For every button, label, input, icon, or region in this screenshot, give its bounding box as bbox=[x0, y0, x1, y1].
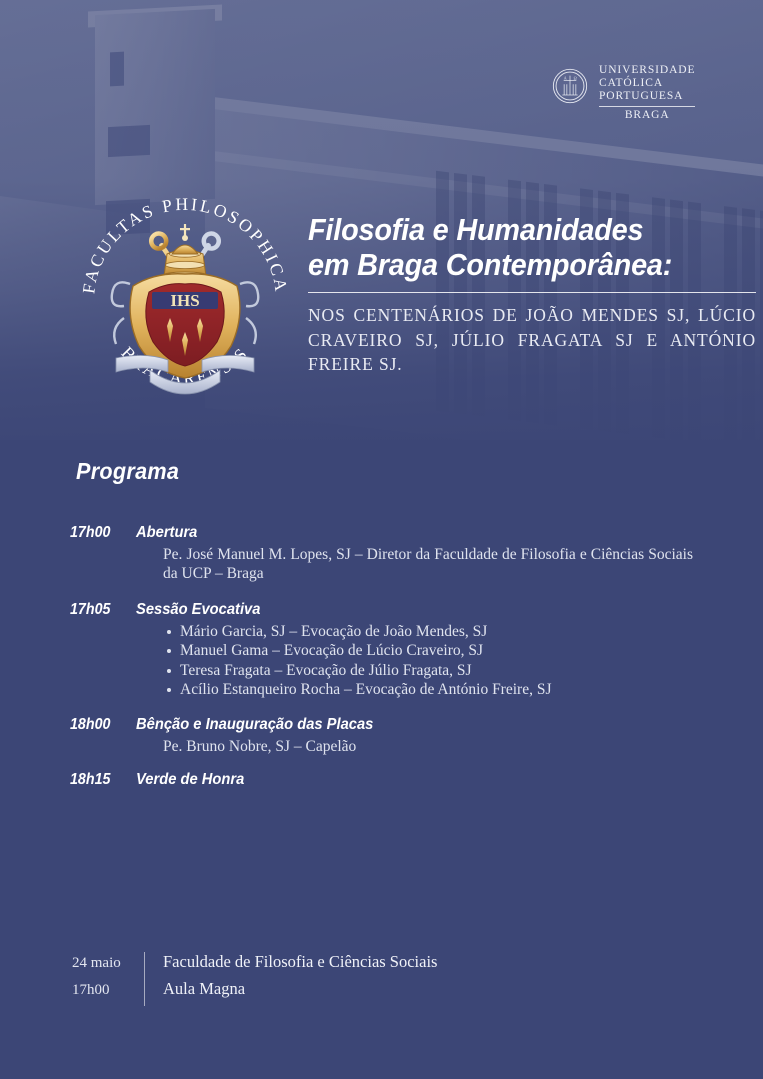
list-item: Acílio Estanqueiro Rocha – Evocação de A… bbox=[180, 680, 695, 699]
footer-time: 17h00 bbox=[72, 982, 144, 999]
svg-text:IHS: IHS bbox=[170, 291, 199, 310]
footer-divider bbox=[144, 952, 145, 979]
entry-time: 17h05 bbox=[70, 601, 131, 619]
program-entry: 18h00 Bênção e Inauguração das Placas bbox=[70, 716, 695, 734]
list-item: Mário Garcia, SJ – Evocação de João Mend… bbox=[180, 622, 695, 641]
ucp-divider bbox=[599, 106, 695, 107]
ucp-crest-icon: A Ω bbox=[552, 68, 588, 104]
ucp-wordmark: UNIVERSIDADE CATÓLICA PORTUGUESA BRAGA bbox=[599, 64, 695, 122]
footer: 24 maio Faculdade de Filosofia e Ciência… bbox=[72, 952, 437, 1006]
entry-title: Verde de Honra bbox=[136, 771, 244, 789]
subtitle: NOS CENTENÁRIOS DE JOÃO MENDES SJ, LÚCIO… bbox=[308, 303, 756, 378]
entry-title: Bênção e Inauguração das Placas bbox=[136, 716, 373, 734]
program-entry: 17h00 Abertura bbox=[70, 524, 695, 542]
footer-divider bbox=[144, 979, 145, 1006]
faculty-seal-icon: FACULTAS PHILOSOPHICA BRACARENSIS bbox=[72, 188, 298, 414]
ucp-logo: A Ω UNIVERSIDADE CATÓLICA PORTUGUESA BRA… bbox=[552, 64, 695, 122]
footer-date: 24 maio bbox=[72, 955, 144, 972]
program-heading: Programa bbox=[76, 458, 179, 485]
program-list: 17h00 Abertura Pe. José Manuel M. Lopes,… bbox=[70, 524, 695, 789]
program-entry: 18h15 Verde de Honra bbox=[70, 771, 695, 789]
list-item: Teresa Fragata – Evocação de Júlio Fraga… bbox=[180, 661, 695, 680]
title-block: Filosofia e Humanidades em Braga Contemp… bbox=[308, 212, 758, 377]
svg-text:Ω: Ω bbox=[574, 76, 577, 81]
ucp-line-1: UNIVERSIDADE bbox=[599, 64, 695, 77]
program-entry: 17h05 Sessão Evocativa bbox=[70, 601, 695, 619]
entry-time: 18h15 bbox=[70, 771, 131, 789]
entry-time: 17h00 bbox=[70, 524, 131, 542]
title-line-2: em Braga Contemporânea: bbox=[308, 247, 727, 282]
footer-venue: Faculdade de Filosofia e Ciências Sociai… bbox=[163, 952, 437, 972]
entry-detail: Pe. Bruno Nobre, SJ – Capelão bbox=[163, 738, 693, 757]
title-line-1: Filosofia e Humanidades bbox=[308, 212, 727, 247]
footer-room: Aula Magna bbox=[163, 979, 245, 999]
svg-text:A: A bbox=[564, 76, 567, 81]
ucp-campus: BRAGA bbox=[599, 109, 695, 122]
footer-row-date: 24 maio Faculdade de Filosofia e Ciência… bbox=[72, 952, 437, 979]
evocation-list: Mário Garcia, SJ – Evocação de João Mend… bbox=[70, 622, 695, 700]
title-divider bbox=[308, 292, 756, 293]
entry-title: Sessão Evocativa bbox=[136, 601, 260, 619]
entry-title: Abertura bbox=[136, 524, 197, 542]
entry-time: 18h00 bbox=[70, 716, 131, 734]
poster-root: A Ω UNIVERSIDADE CATÓLICA PORTUGUESA BRA… bbox=[0, 0, 763, 1079]
ucp-line-2: CATÓLICA bbox=[599, 77, 695, 90]
footer-row-time: 17h00 Aula Magna bbox=[72, 979, 437, 1006]
ucp-line-3: PORTUGUESA bbox=[599, 90, 695, 103]
list-item: Manuel Gama – Evocação de Lúcio Craveiro… bbox=[180, 641, 695, 660]
entry-detail: Pe. José Manuel M. Lopes, SJ – Diretor d… bbox=[163, 546, 693, 584]
